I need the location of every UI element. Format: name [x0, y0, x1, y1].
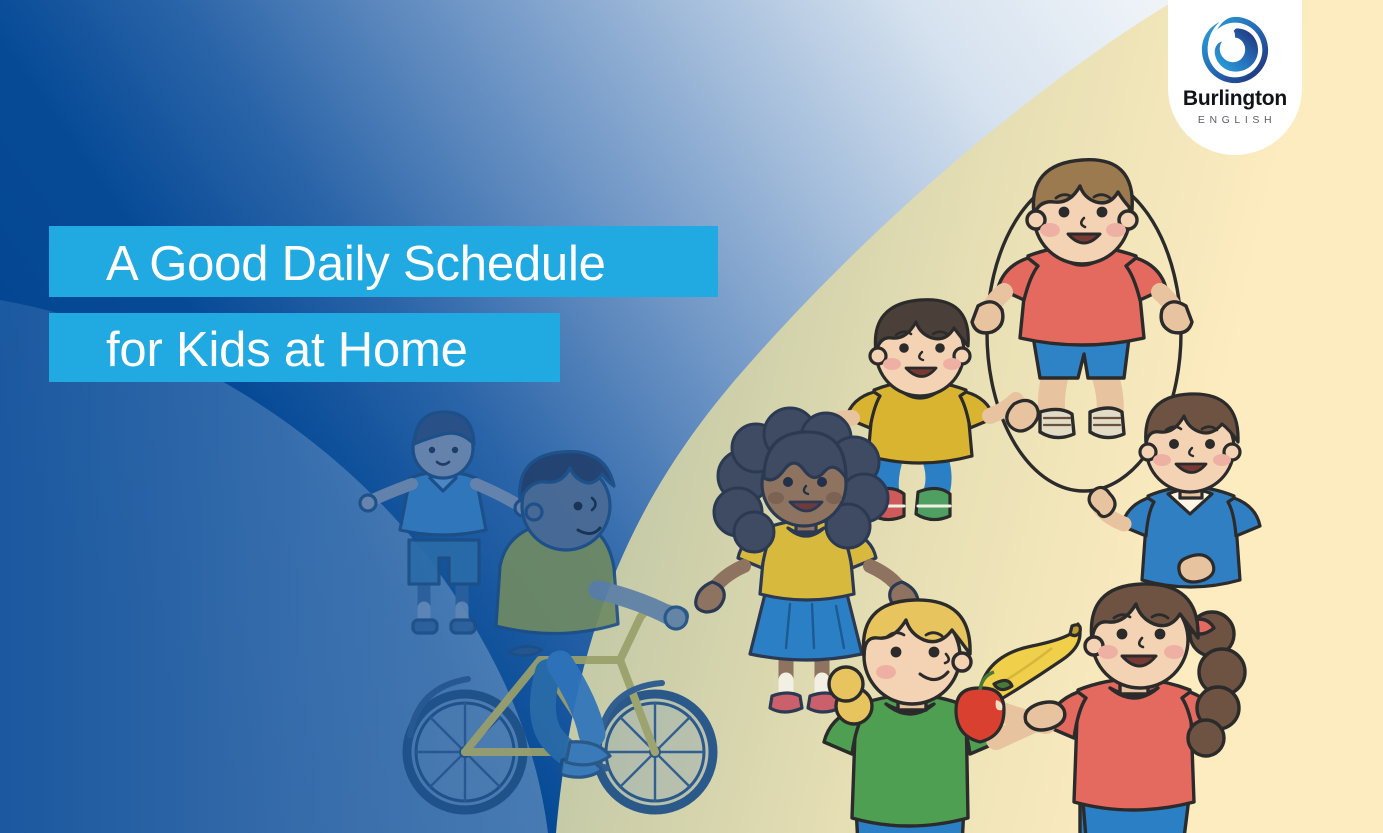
burlington-b-spiral-icon — [1199, 14, 1271, 86]
title-line-2: for Kids at Home — [49, 313, 560, 382]
title-line-1: A Good Daily Schedule — [49, 226, 718, 297]
burlington-english-logo-badge[interactable]: Burlington ENGLISH — [1168, 0, 1302, 155]
logo-wordmark: Burlington — [1183, 88, 1287, 109]
poster-canvas: A Good Daily Schedule for Kids at Home — [0, 0, 1383, 833]
logo-subtitle: ENGLISH — [1194, 115, 1276, 126]
background-blue-curve — [0, 0, 1383, 833]
poster-title: A Good Daily Schedule for Kids at Home — [49, 226, 718, 382]
